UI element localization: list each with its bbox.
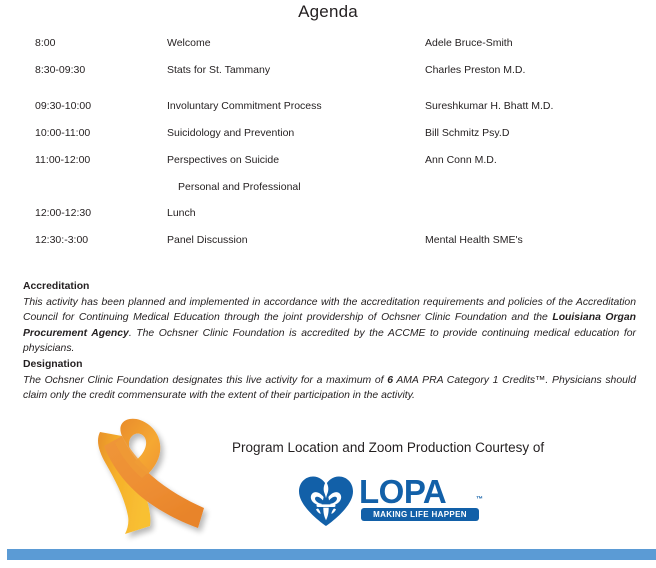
agenda-time: 11:00-12:00 — [35, 155, 160, 166]
lopa-tagline: MAKING LIFE HAPPEN — [361, 508, 479, 521]
agenda-row: 8:30-09:30Stats for St. TammanyCharles P… — [0, 65, 656, 92]
agenda-time: 09:30-10:00 — [35, 101, 160, 112]
designation-body-part1: The Ochsner Clinic Foundation designates… — [23, 375, 387, 386]
agenda-topic: Welcome — [167, 38, 417, 49]
agenda-speaker: Mental Health SME's — [425, 235, 640, 246]
agenda-row: 09:30-10:00Involuntary Commitment Proces… — [0, 101, 656, 128]
agenda-topic: Personal and Professional — [178, 182, 428, 193]
lopa-wordmark: LOPA — [359, 474, 446, 510]
footer-accent-bar — [7, 549, 656, 560]
accreditation-body-part1: This activity has been planned and imple… — [23, 297, 636, 324]
agenda-topic: Stats for St. Tammany — [167, 65, 417, 76]
agenda-speaker: Bill Schmitz Psy.D — [425, 128, 640, 139]
agenda-topic: Perspectives on Suicide — [167, 155, 417, 166]
agenda-topic: Suicidology and Prevention — [167, 128, 417, 139]
agenda-topic: Panel Discussion — [167, 235, 417, 246]
agenda-topic: Involuntary Commitment Process — [167, 101, 417, 112]
accreditation-section: Accreditation This activity has been pla… — [23, 279, 636, 404]
agenda-table: 8:00WelcomeAdele Bruce-Smith8:30-09:30St… — [0, 38, 656, 262]
agenda-topic: Lunch — [167, 208, 417, 219]
agenda-speaker: Adele Bruce-Smith — [425, 38, 640, 49]
heart-fleur-de-lis-icon — [297, 475, 355, 527]
agenda-time: 8:00 — [35, 38, 160, 49]
agenda-speaker: Ann Conn M.D. — [425, 155, 640, 166]
page-title: Agenda — [0, 2, 656, 22]
lopa-logo: LOPA ™ MAKING LIFE HAPPEN — [297, 474, 492, 534]
agenda-row: 11:00-12:00Perspectives on SuicideAnn Co… — [0, 155, 656, 182]
agenda-time: 10:00-11:00 — [35, 128, 160, 139]
courtesy-label: Program Location and Zoom Production Cou… — [232, 440, 544, 455]
awareness-ribbon-icon — [82, 416, 217, 546]
agenda-row: 12:00-12:30Lunch — [0, 208, 656, 235]
agenda-speaker: Sureshkumar H. Bhatt M.D. — [425, 101, 640, 112]
agenda-speaker: Charles Preston M.D. — [425, 65, 640, 76]
lopa-trademark-symbol: ™ — [476, 496, 483, 503]
agenda-time: 8:30-09:30 — [35, 65, 160, 76]
designation-body: The Ochsner Clinic Foundation designates… — [23, 373, 636, 404]
accreditation-heading: Accreditation — [23, 279, 636, 295]
designation-heading: Designation — [23, 357, 636, 373]
agenda-row: 12:30:-3:00Panel DiscussionMental Health… — [0, 235, 656, 262]
agenda-time: 12:30:-3:00 — [35, 235, 160, 246]
accreditation-body: This activity has been planned and imple… — [23, 295, 636, 357]
agenda-row: Personal and Professional — [0, 182, 656, 208]
agenda-row: 8:00WelcomeAdele Bruce-Smith — [0, 38, 656, 65]
agenda-time: 12:00-12:30 — [35, 208, 160, 219]
agenda-row: 10:00-11:00Suicidology and PreventionBil… — [0, 128, 656, 155]
